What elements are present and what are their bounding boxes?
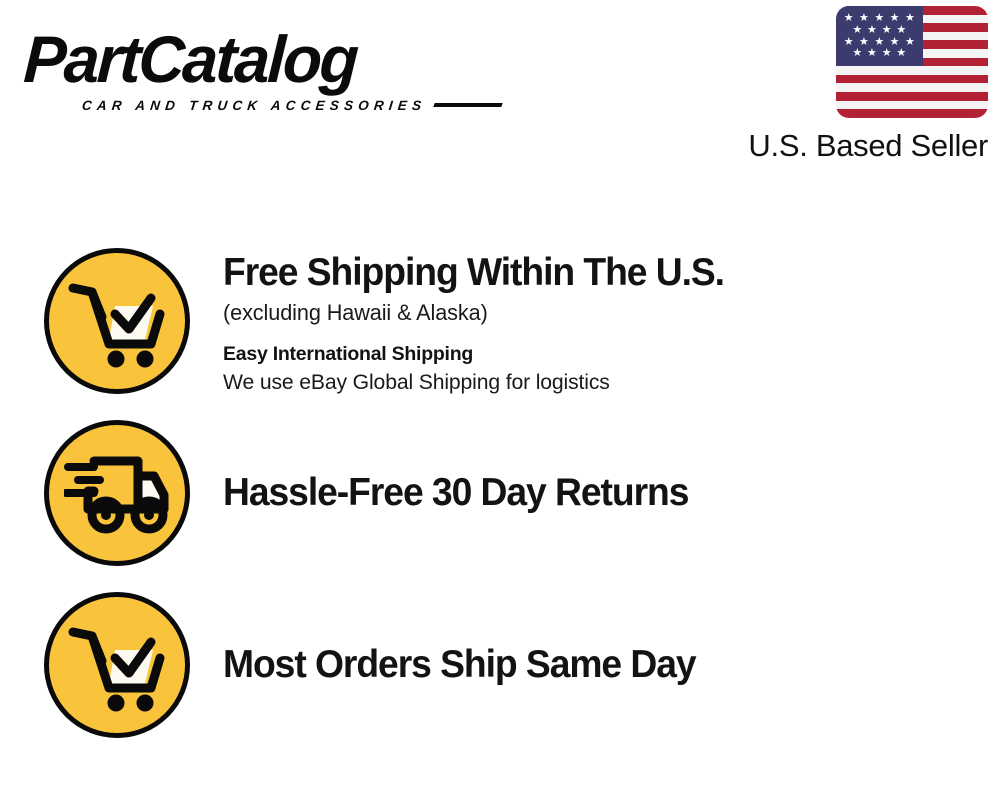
feature-miniline: We use eBay Global Shipping for logistic… (223, 368, 740, 397)
shopping-cart-check-icon (44, 248, 190, 394)
feature-row-free-shipping: Free Shipping Within The U.S. (excluding… (44, 248, 748, 397)
feature-row-returns: Hassle-Free 30 Day Returns (44, 420, 710, 566)
tagline-rule (434, 103, 503, 107)
flag-canton: ★★★★★ ★★★★ ★★★★★ ★★★★ (836, 6, 923, 66)
feature-minihead: Easy International Shipping (223, 341, 748, 367)
feature-subline: (excluding Hawaii & Alaska) (223, 298, 740, 328)
feature-text-returns: Hassle-Free 30 Day Returns (223, 470, 710, 516)
brand-logo-wordmark: PartCatalog (22, 22, 491, 96)
delivery-truck-icon (44, 420, 190, 566)
us-based-seller-badge: ★★★★★ ★★★★ ★★★★★ ★★★★ U.S. Based Seller (718, 6, 988, 165)
us-based-seller-label: U.S. Based Seller (718, 127, 988, 165)
brand-tagline-row: CAR AND TRUCK ACCESSORIES (82, 94, 502, 116)
feature-headline: Hassle-Free 30 Day Returns (223, 470, 688, 516)
feature-row-same-day-ship: Most Orders Ship Same Day (44, 592, 718, 738)
brand-logo[interactable]: PartCatalog CAR AND TRUCK ACCESSORIES (22, 22, 502, 118)
feature-headline: Most Orders Ship Same Day (223, 642, 696, 688)
us-flag-icon: ★★★★★ ★★★★ ★★★★★ ★★★★ (836, 6, 988, 118)
seller-info-banner: { "brand": { "logo_text": "PartCatalog",… (0, 0, 1000, 800)
feature-text-same-day-ship: Most Orders Ship Same Day (223, 642, 718, 688)
shopping-cart-check-icon (44, 592, 190, 738)
feature-text-free-shipping: Free Shipping Within The U.S. (excluding… (223, 248, 748, 397)
brand-tagline: CAR AND TRUCK ACCESSORIES (81, 98, 427, 113)
feature-headline: Free Shipping Within The U.S. (223, 250, 724, 296)
